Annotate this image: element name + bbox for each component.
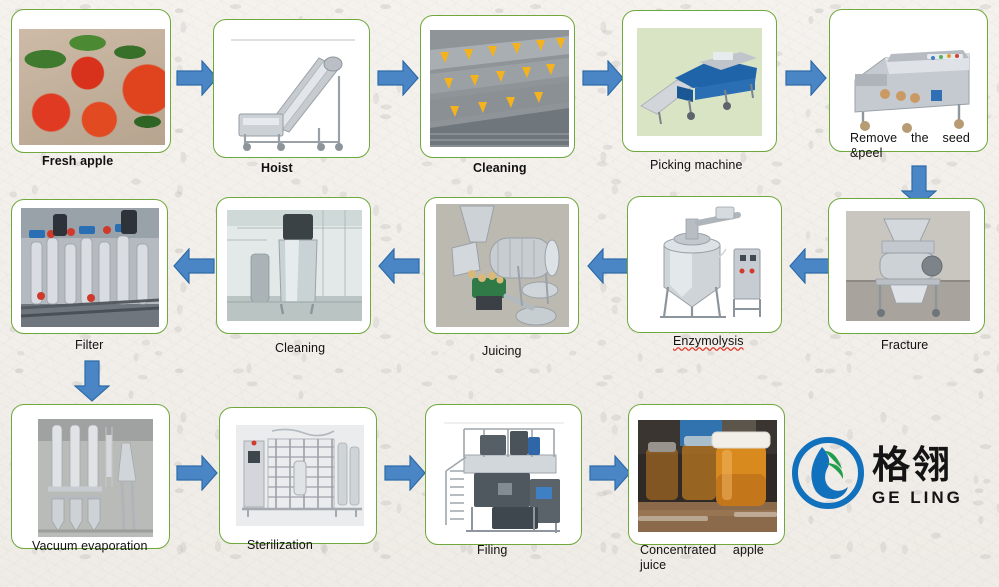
label-cleaning-washer: Cleaning xyxy=(473,161,527,176)
company-logo: 格翎 GE LING xyxy=(792,437,963,514)
arrow-right-6 xyxy=(384,455,426,491)
stainless-mixing-tank-photo xyxy=(227,210,362,321)
arrow-right-5 xyxy=(176,455,218,491)
logo-english-name: GE LING xyxy=(872,489,963,506)
filtration-unit-photo xyxy=(21,208,159,327)
arrow-right-7 xyxy=(589,455,631,491)
enzymolysis-reactor-tank-photo xyxy=(642,205,770,324)
label-cleaning-tank: Cleaning xyxy=(275,341,325,356)
process-step-sterilization[interactable] xyxy=(219,407,377,544)
label-sterilization: Sterilization xyxy=(247,538,313,553)
logo-chinese-name: 格翎 xyxy=(872,446,963,484)
label-vacuum-evaporation: Vacuum evaporation xyxy=(32,539,148,554)
process-step-juicing[interactable] xyxy=(424,197,579,334)
process-step-picking-machine[interactable] xyxy=(622,10,777,152)
arrow-right-1 xyxy=(176,60,218,96)
label-fracture: Fracture xyxy=(881,338,928,353)
label-picking-machine: Picking machine xyxy=(650,158,743,173)
process-step-cleaning-washer[interactable] xyxy=(420,15,575,158)
sorting-picking-conveyor-machine xyxy=(637,28,762,136)
fresh-apples-photo xyxy=(19,29,165,145)
screw-juicer-machine-photo xyxy=(436,204,569,327)
arrow-left-3 xyxy=(587,248,629,284)
label-filter: Filter xyxy=(75,338,103,353)
process-step-concentrated-apple-juice[interactable] xyxy=(628,404,785,545)
arrow-down-left xyxy=(74,360,110,402)
seed-removing-peeling-machine xyxy=(841,28,979,133)
process-step-vacuum-evaporation[interactable] xyxy=(11,404,170,549)
filling-machine-photo xyxy=(436,413,573,539)
label-filing: Filing xyxy=(477,543,507,558)
arrow-left-4 xyxy=(789,248,831,284)
arrow-right-4 xyxy=(785,60,827,96)
concentrated-apple-juice-jars-photo xyxy=(638,420,777,532)
fruit-crusher-machine-photo xyxy=(846,211,970,321)
brush-roller-washing-machine xyxy=(430,30,569,147)
process-step-fresh-apple[interactable] xyxy=(11,9,171,153)
vacuum-evaporator-photo xyxy=(38,419,153,537)
process-step-hoist[interactable] xyxy=(213,19,370,158)
arrow-left-1 xyxy=(173,248,215,284)
process-step-cleaning-tank[interactable] xyxy=(216,197,371,334)
arrow-right-2 xyxy=(377,60,419,96)
arrow-left-2 xyxy=(378,248,420,284)
process-step-fracture[interactable] xyxy=(828,198,985,334)
circular-leaf-mark-icon xyxy=(792,437,864,514)
process-step-filter[interactable] xyxy=(11,199,168,334)
belt-hoist-conveyor-machine xyxy=(223,28,363,152)
arrow-right-3 xyxy=(582,60,624,96)
label-enzymolysis: Enzymolysis xyxy=(673,334,744,349)
label-hoist: Hoist xyxy=(261,161,293,176)
label-concentrated-apple-juice: Concentrated apple juice xyxy=(640,543,764,573)
label-juicing: Juicing xyxy=(482,344,522,359)
process-step-enzymolysis[interactable] xyxy=(627,196,782,333)
process-step-filing[interactable] xyxy=(425,404,582,545)
label-fresh-apple: Fresh apple xyxy=(42,154,113,169)
label-remove-seed-peel: Remove the seed &peel xyxy=(850,131,970,161)
uht-sterilizer-photo xyxy=(236,425,364,526)
